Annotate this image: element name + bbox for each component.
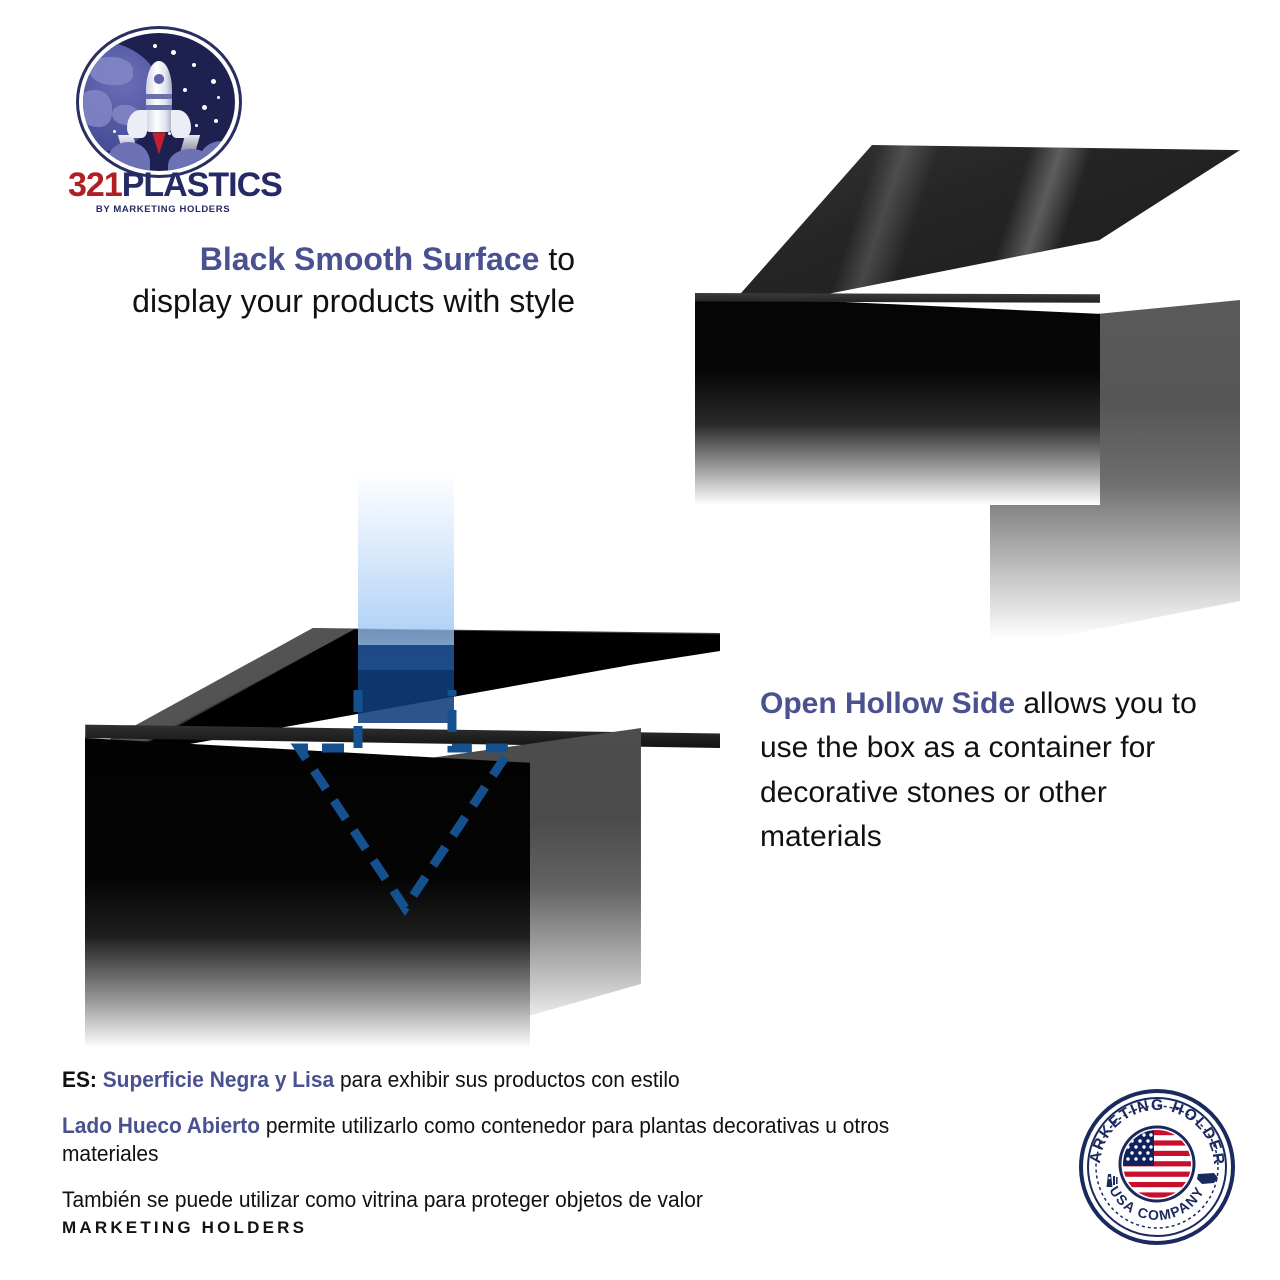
spanish-line-2: Lado Hueco Abierto permite utilizarlo co… [62, 1112, 899, 1167]
spanish-lang-prefix: ES: [62, 1067, 97, 1092]
infographic-canvas: 321PLASTICS BY MARKETING HOLDERS Black S… [0, 0, 1280, 1280]
callout-right-highlight: Open Hollow Side [760, 687, 1015, 720]
spanish-line-1: ES: Superficie Negra y Lisa para exhibir… [62, 1066, 899, 1093]
rocket-fin-right [171, 110, 191, 138]
closed-top-acrylic-box [600, 145, 1240, 505]
brand-logo: 321PLASTICS BY MARKETING HOLDERS [68, 26, 258, 211]
spanish-description-block: ES: Superficie Negra y Lisa para exhibir… [62, 1066, 962, 1214]
usa-flag-circle-icon [1123, 1130, 1191, 1198]
spanish-line-1-highlight: Superficie Negra y Lisa [103, 1067, 334, 1092]
logo-wordmark: 321PLASTICS BY MARKETING HOLDERS [68, 168, 258, 215]
box-top-surface [600, 145, 1240, 315]
logo-321-text: 321 [68, 166, 122, 204]
rocket-icon [1107, 1174, 1118, 1187]
usa-map-icon [1197, 1173, 1218, 1184]
callout-open-hollow-side: Open Hollow Side allows you to use the b… [760, 682, 1210, 860]
box-bottom-front-face [30, 738, 530, 1048]
brand-footer-text: MARKETING HOLDERS [62, 1218, 307, 1238]
spanish-line-2-highlight: Lado Hueco Abierto [62, 1113, 260, 1138]
spanish-line-1-body: para exhibir sus productos con estilo [334, 1067, 679, 1092]
callout-top-highlight: Black Smooth Surface [200, 241, 540, 277]
logo-space-badge [76, 26, 242, 178]
open-hollow-acrylic-box [30, 628, 720, 1048]
box-top-front-face [600, 295, 1100, 505]
logo-plastics-text: PLASTICS [122, 166, 282, 204]
usa-company-seal: MARKETING HOLDERS USA COMPANY [1078, 1088, 1236, 1246]
logo-tagline: BY MARKETING HOLDERS [68, 205, 258, 215]
logo-night-sky [83, 33, 235, 171]
spanish-line-3: También se puede utilizar como vitrina p… [62, 1186, 899, 1213]
rocket-fin-left [127, 110, 147, 138]
callout-black-smooth-surface: Black Smooth Surface to display your pro… [110, 238, 575, 322]
